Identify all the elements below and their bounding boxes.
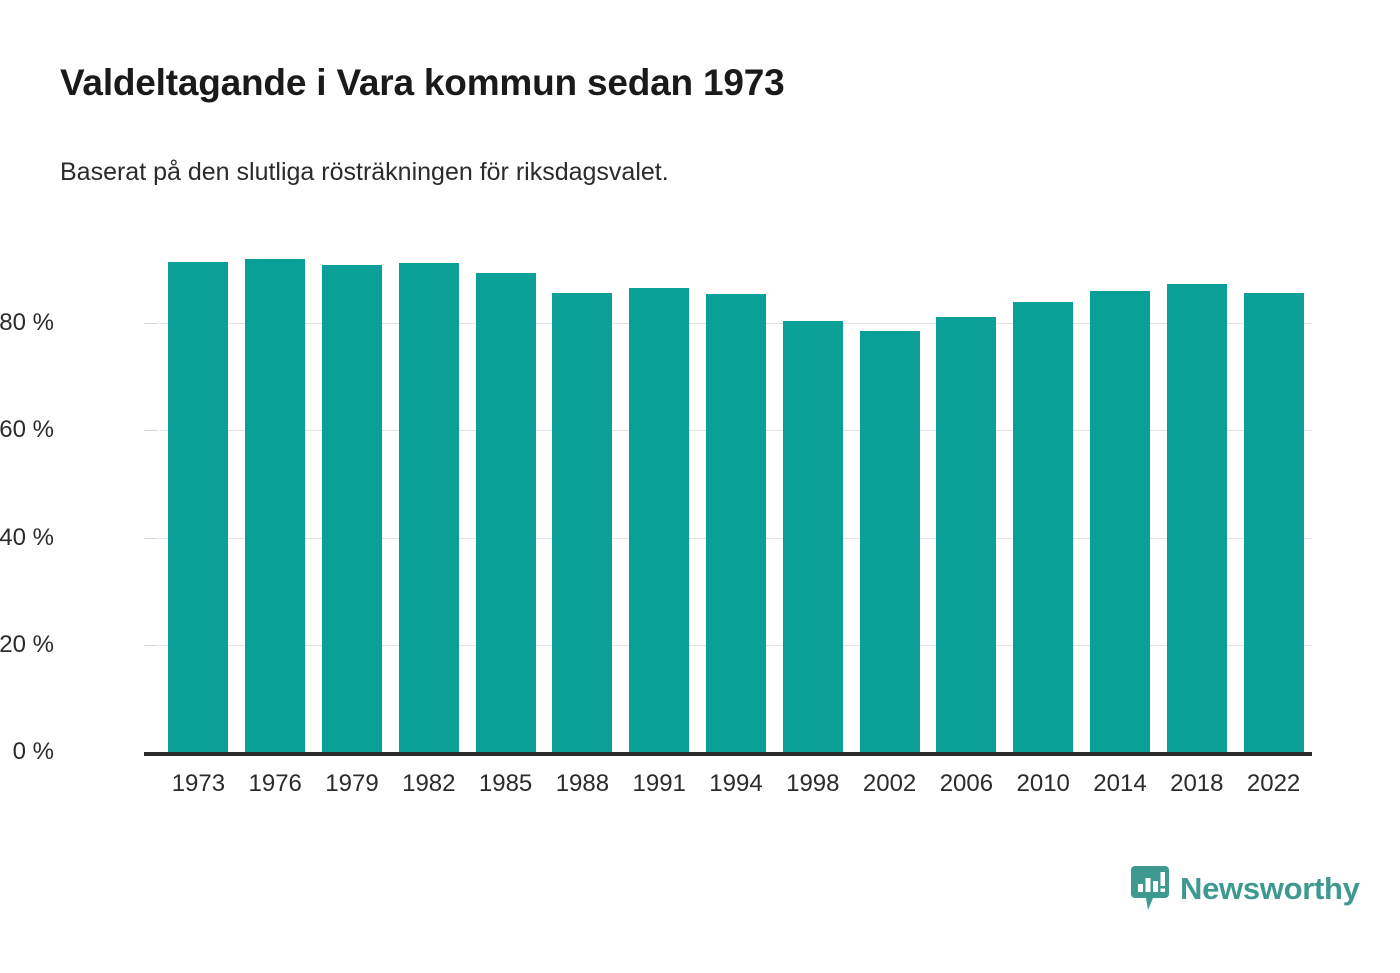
bar-slot	[390, 216, 467, 752]
bar-2018[interactable]	[1167, 284, 1227, 752]
bar-1973[interactable]	[168, 262, 228, 752]
x-axis-label: 1991	[621, 772, 698, 796]
bar-slot	[467, 216, 544, 752]
newsworthy-logo[interactable]: Newsworthy	[1131, 866, 1360, 911]
y-axis-label: 0 %	[0, 740, 54, 764]
chart-page: Valdeltagande i Vara kommun sedan 1973 B…	[0, 0, 1400, 973]
bar-slot	[851, 216, 928, 752]
bar-slot	[698, 216, 775, 752]
x-axis-label: 2014	[1082, 772, 1159, 796]
y-tick-mark	[144, 323, 158, 324]
x-axis-label: 1994	[698, 772, 775, 796]
plot-area: 0 %20 %40 %60 %80 % 19731976197919821985…	[160, 216, 1312, 752]
bar-2014[interactable]	[1090, 291, 1150, 752]
x-axis-label: 2002	[851, 772, 928, 796]
x-axis-label: 2006	[928, 772, 1005, 796]
bar-series	[160, 216, 1312, 752]
bar-slot	[160, 216, 237, 752]
bar-2022[interactable]	[1244, 293, 1304, 752]
y-axis-label: 20 %	[0, 633, 54, 657]
bar-slot	[774, 216, 851, 752]
y-tick-mark	[144, 430, 158, 431]
x-axis-label: 1982	[390, 772, 467, 796]
y-axis-label: 80 %	[0, 311, 54, 335]
bar-1979[interactable]	[322, 265, 382, 752]
bar-1982[interactable]	[399, 263, 459, 752]
x-axis-label: 1979	[314, 772, 391, 796]
y-axis-label: 60 %	[0, 418, 54, 442]
x-axis-label: 2010	[1005, 772, 1082, 796]
y-tick-mark	[144, 645, 158, 646]
bar-slot	[1158, 216, 1235, 752]
x-axis-label: 1998	[774, 772, 851, 796]
bar-slot	[544, 216, 621, 752]
bar-1988[interactable]	[552, 293, 612, 752]
bar-1998[interactable]	[783, 321, 843, 752]
bar-2002[interactable]	[860, 331, 920, 752]
bar-slot	[928, 216, 1005, 752]
x-axis-label: 2022	[1235, 772, 1312, 796]
bar-slot	[1235, 216, 1312, 752]
axis-baseline	[144, 752, 1312, 756]
y-axis-label: 40 %	[0, 526, 54, 550]
bar-chart: 0 %20 %40 %60 %80 % 19731976197919821985…	[0, 0, 1400, 973]
newsworthy-bar-chart-bubble-icon	[1131, 866, 1169, 911]
x-axis-label: 1976	[237, 772, 314, 796]
x-axis-label: 2018	[1158, 772, 1235, 796]
bar-1976[interactable]	[245, 259, 305, 752]
bar-slot	[1082, 216, 1159, 752]
bar-1985[interactable]	[476, 273, 536, 752]
bar-slot	[1005, 216, 1082, 752]
x-axis-label: 1973	[160, 772, 237, 796]
bar-2010[interactable]	[1013, 302, 1073, 752]
y-tick-mark	[144, 538, 158, 539]
bar-slot	[621, 216, 698, 752]
bar-slot	[237, 216, 314, 752]
newsworthy-wordmark: Newsworthy	[1180, 873, 1360, 904]
x-axis-label: 1988	[544, 772, 621, 796]
bar-1991[interactable]	[629, 288, 689, 752]
bar-slot	[314, 216, 391, 752]
bar-2006[interactable]	[936, 317, 996, 752]
bar-1994[interactable]	[706, 294, 766, 752]
x-axis-label: 1985	[467, 772, 544, 796]
